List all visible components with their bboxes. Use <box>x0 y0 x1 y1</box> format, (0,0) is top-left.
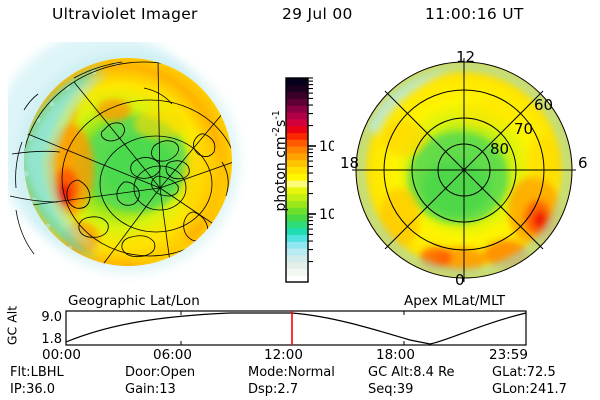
colorbar-band <box>286 132 308 139</box>
status-door: Door: Open <box>125 365 195 380</box>
status-ip: IP: 36.0 <box>10 382 55 397</box>
colorbar-unit-main: photon cm <box>273 136 289 211</box>
colorbar-unit-label: photon cm-2s-1 <box>271 81 289 241</box>
colorbar-band <box>286 234 308 241</box>
colorbar-band <box>286 98 308 105</box>
colorbar-unit-base: s <box>273 120 289 127</box>
uvi-display: Ultraviolet Imager 29 Jul 00 11:00:16 UT <box>0 0 600 400</box>
colorbar-band <box>286 119 308 126</box>
colorbar-band <box>286 173 308 180</box>
colorbar-band <box>286 248 308 255</box>
colorbar-band <box>286 194 308 201</box>
colorbar-band <box>286 241 308 248</box>
status-gc-alt-value: 8.4 Re <box>413 365 454 380</box>
instrument-title: Ultraviolet Imager <box>52 5 198 23</box>
status-glon: GLon: 241.7 <box>492 382 567 397</box>
mlt-label-bottom: 0 <box>455 271 465 289</box>
colorbar-band <box>286 268 308 275</box>
colorbar-band <box>286 214 308 221</box>
colorbar-band <box>286 153 308 160</box>
colorbar-band <box>286 92 308 99</box>
mlt-label-left: 18 <box>340 154 359 172</box>
mlat-label-60: 60 <box>534 96 553 114</box>
colorbar-band <box>286 112 308 119</box>
status-glat-key: GLat: <box>492 365 527 380</box>
colorbar-ticks <box>308 78 316 262</box>
status-glat: GLat: 72.5 <box>492 365 556 380</box>
observation-date: 29 Jul 00 <box>282 5 353 23</box>
colorbar-unit-exp2: -1 <box>271 110 282 119</box>
colorbar-band <box>286 160 308 167</box>
mlt-label-right: 6 <box>578 154 588 172</box>
orbit-xtick-label: 06:00 <box>153 347 192 363</box>
status-gain-value: 13 <box>159 382 176 397</box>
status-ip-value: 36.0 <box>26 382 55 397</box>
colorbar-band <box>286 78 308 85</box>
geographic-plot <box>8 42 268 294</box>
colorbar-unit-exp1: -2 <box>271 127 282 136</box>
colorbar-band <box>286 146 308 153</box>
mlat-label-80: 80 <box>490 140 509 158</box>
status-filter-key: Flt: <box>10 365 31 380</box>
colorbar-band <box>286 207 308 214</box>
status-ip-key: IP: <box>10 382 26 397</box>
geographic-panel[interactable] <box>8 42 268 294</box>
status-gain-key: Gain: <box>125 382 159 397</box>
colorbar-band <box>286 255 308 262</box>
orbit-ytick-high: 9.0 <box>24 310 62 325</box>
apex-panel[interactable]: 12 6 0 18 60 70 80 <box>338 42 596 294</box>
colorbar-tick-label: 100 <box>319 139 334 155</box>
status-seq-key: Seq: <box>368 382 397 397</box>
mlt-label-top: 12 <box>456 48 475 66</box>
colorbar-band <box>286 262 308 269</box>
status-mode-key: Mode: <box>248 365 288 380</box>
mlat-mlt-grid <box>352 58 576 282</box>
status-filter-value: LBHL <box>31 365 64 380</box>
orbit-xtick-label: 18:00 <box>376 347 415 363</box>
orbit-xtick-label: 12:00 <box>264 347 303 363</box>
status-gc-alt: GC Alt: 8.4 Re <box>368 365 455 380</box>
colorbar-band <box>286 166 308 173</box>
colorbar-band <box>286 228 308 235</box>
orbit-xtick-label: 23:59 <box>489 347 528 363</box>
status-door-value: Open <box>160 365 195 380</box>
header-bar: Ultraviolet Imager 29 Jul 00 11:00:16 UT <box>0 5 600 31</box>
status-door-key: Door: <box>125 365 160 380</box>
colorbar-tick-label: 10 <box>319 207 334 223</box>
status-gain: Gain: 13 <box>125 382 176 397</box>
colorbar-band <box>286 187 308 194</box>
status-dsp-key: Dsp: <box>248 382 277 397</box>
status-dsp-value: 2.7 <box>277 382 298 397</box>
colorbar-band <box>286 180 308 187</box>
status-glon-key: GLon: <box>492 382 530 397</box>
colorbar-tick-labels: 10010 <box>319 139 334 223</box>
status-glon-value: 241.7 <box>530 382 567 397</box>
status-gc-alt-key: GC Alt: <box>368 365 413 380</box>
orbit-ytick-low: 1.8 <box>24 332 62 347</box>
orbit-y-axis-label: GC Alt <box>5 298 20 354</box>
altitude-curve <box>66 313 526 344</box>
colorbar-band <box>286 105 308 112</box>
orbit-xtick-label: 00:00 <box>42 347 81 363</box>
colorbar-band <box>286 85 308 92</box>
colorbar-band <box>286 200 308 207</box>
colorbar-band <box>286 126 308 133</box>
orbit-altitude-plot[interactable]: GC Alt 9.0 1.8 00:0006:0012:0018:0023:59 <box>0 306 600 362</box>
status-footer: Flt: LBHLDoor: OpenMode: NormalGC Alt: 8… <box>0 365 600 399</box>
status-mode-value: Normal <box>288 365 335 380</box>
observation-time: 11:00:16 UT <box>425 5 524 23</box>
mlat-label-70: 70 <box>514 120 533 138</box>
status-mode: Mode: Normal <box>248 365 335 380</box>
apex-plot: 12 6 0 18 60 70 80 <box>338 42 596 294</box>
status-dsp: Dsp: 2.7 <box>248 382 298 397</box>
colorbar[interactable]: photon cm-2s-1 10010 <box>262 60 334 300</box>
colorbar-band <box>286 139 308 146</box>
colorbar-band <box>286 221 308 228</box>
status-seq-value: 39 <box>397 382 414 397</box>
colorbar-bands <box>286 78 308 283</box>
status-filter: Flt: LBHL <box>10 365 64 380</box>
status-glat-value: 72.5 <box>527 365 556 380</box>
status-seq: Seq: 39 <box>368 382 413 397</box>
